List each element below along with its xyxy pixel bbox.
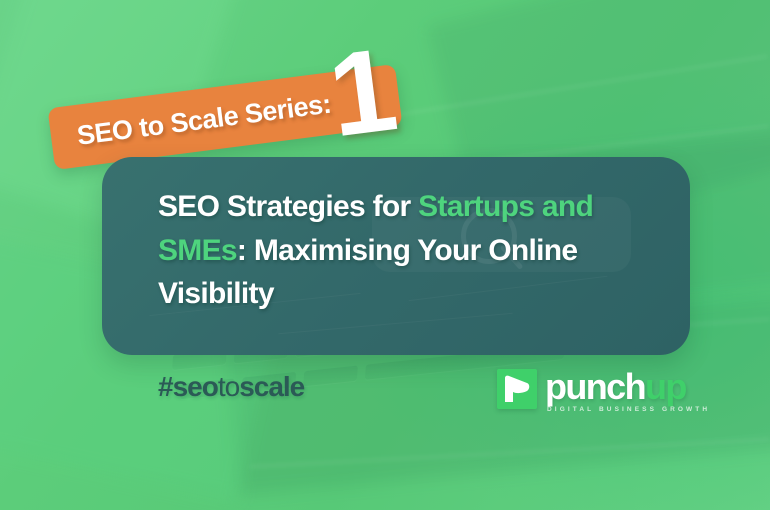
brand-wordmark: punchup bbox=[545, 367, 686, 407]
promo-banner-canvas: SEO to Scale Series: 1 SEO Strategies fo… bbox=[0, 0, 770, 510]
title-card: SEO Strategies for Startups and SMEs: Ma… bbox=[102, 157, 690, 355]
title-segment-white-1: SEO Strategies for bbox=[158, 190, 418, 223]
title-segment-accent-2: SMEs bbox=[158, 234, 237, 267]
brand-tagline: DIGITAL BUSINESS GROWTH bbox=[547, 406, 710, 413]
page-title: SEO Strategies for Startups and SMEs: Ma… bbox=[158, 185, 658, 316]
hashtag-bold-1: #seo bbox=[158, 371, 218, 402]
campaign-hashtag: #seotoscale bbox=[158, 371, 304, 403]
brand-logo: punchup DIGITAL BUSINESS GROWTH bbox=[497, 367, 672, 425]
title-segment-accent-1: Startups and bbox=[418, 190, 593, 223]
title-segment-white-3: Visibility bbox=[158, 277, 274, 310]
hashtag-bold-2: scale bbox=[239, 371, 304, 402]
title-segment-white-2: : Maximising Your Online bbox=[237, 234, 577, 267]
brand-word-punch: punch bbox=[545, 366, 645, 407]
brand-word-up: up bbox=[645, 366, 686, 407]
hashtag-regular: to bbox=[218, 371, 239, 402]
punchup-flag-mark-icon bbox=[497, 369, 537, 409]
